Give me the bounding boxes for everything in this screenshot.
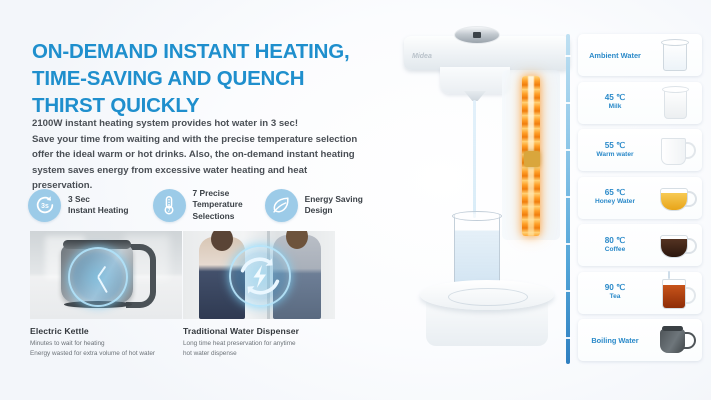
- brand-logo: Midea: [412, 53, 432, 60]
- traditional-dispenser-photo: [183, 231, 335, 319]
- temperature-card-value: 90 ℃: [578, 283, 652, 293]
- temperature-card-label: Honey Water: [578, 198, 652, 207]
- feature-item-temperature-selections: 7 7 Precise Temperature Selections: [153, 188, 243, 221]
- energy-bolt-glow-icon: [229, 245, 291, 307]
- product-image-instant-water-dispenser: Midea: [398, 18, 578, 366]
- temperature-preset-list: Ambient Water 45 ℃ Milk 55 ℃ Warm water: [578, 34, 702, 367]
- headline-line-2: TIME-SAVING AND QUENCH: [32, 65, 432, 92]
- temperature-card-boiling-water[interactable]: Boiling Water: [578, 319, 702, 361]
- temperature-card-tea[interactable]: 90 ℃ Tea: [578, 272, 702, 314]
- control-knob: [454, 26, 500, 44]
- feature-label: Energy Saving Design: [305, 194, 363, 216]
- kettle-icon: [652, 319, 702, 361]
- product-marketing-banner: ON-DEMAND INSTANT HEATING, TIME-SAVING A…: [0, 0, 711, 400]
- page-title: ON-DEMAND INSTANT HEATING, TIME-SAVING A…: [32, 38, 432, 119]
- temperature-card-label: Coffee: [578, 246, 652, 255]
- headline-line-1: ON-DEMAND INSTANT HEATING,: [32, 38, 432, 65]
- temperature-card-milk[interactable]: 45 ℃ Milk: [578, 82, 702, 124]
- honey-cup-icon: [652, 177, 702, 219]
- feature-item-energy-saving: Energy Saving Design: [265, 189, 363, 222]
- white-mug-icon: [652, 129, 702, 171]
- water-stream: [473, 100, 476, 218]
- clock-glow-icon: [68, 247, 128, 307]
- feature-list: 3s 3 Sec Instant Heating 7 7 Precise Tem…: [28, 183, 428, 227]
- heater-valve: [524, 151, 540, 167]
- comparison-subtitle: Minutes to wait for heating Energy waste…: [30, 339, 182, 358]
- temperature-scale-line: [566, 34, 570, 364]
- feature-label: 3 Sec Instant Heating: [68, 194, 129, 216]
- milk-glass-icon: [652, 82, 702, 124]
- comparison-card-electric-kettle: Electric Kettle Minutes to wait for heat…: [30, 231, 182, 358]
- comparison-card-traditional-dispenser: Traditional Water Dispenser Long time he…: [183, 231, 335, 358]
- water-glass-icon: [652, 34, 702, 76]
- temperature-card-coffee[interactable]: 80 ℃ Coffee: [578, 224, 702, 266]
- feature-label: 7 Precise Temperature Selections: [193, 188, 243, 221]
- tea-glass-icon: [652, 272, 702, 314]
- body-copy: 2100W instant heating system provides ho…: [32, 116, 424, 194]
- feature-item-instant-heating: 3s 3 Sec Instant Heating: [28, 189, 129, 222]
- temperature-card-value: 45 ℃: [578, 93, 652, 103]
- temperature-card-ambient-water[interactable]: Ambient Water: [578, 34, 702, 76]
- comparison-title: Electric Kettle: [30, 326, 182, 336]
- comparison-title: Traditional Water Dispenser: [183, 326, 335, 336]
- temperature-card-label: Boiling Water: [578, 336, 652, 345]
- temperature-card-label: Tea: [578, 293, 652, 302]
- temperature-card-label: Milk: [578, 103, 652, 112]
- temperature-card-value: 80 ℃: [578, 236, 652, 246]
- refresh-3s-icon: 3s: [28, 189, 61, 222]
- svg-text:7: 7: [167, 208, 170, 214]
- svg-text:3s: 3s: [41, 203, 49, 210]
- leaf-energy-icon: [265, 189, 298, 222]
- electric-kettle-photo: [30, 231, 182, 319]
- temperature-card-warm-water[interactable]: 55 ℃ Warm water: [578, 129, 702, 171]
- thermometer-icon: 7: [153, 189, 186, 222]
- temperature-card-honey-water[interactable]: 65 ℃ Honey Water: [578, 177, 702, 219]
- temperature-card-value: 65 ℃: [578, 188, 652, 198]
- temperature-card-label: Ambient Water: [578, 51, 652, 60]
- temperature-card-value: 55 ℃: [578, 141, 652, 151]
- comparison-subtitle: Long time heat preservation for anytime …: [183, 339, 335, 358]
- coffee-cup-icon: [652, 224, 702, 266]
- temperature-card-label: Warm water: [578, 151, 652, 160]
